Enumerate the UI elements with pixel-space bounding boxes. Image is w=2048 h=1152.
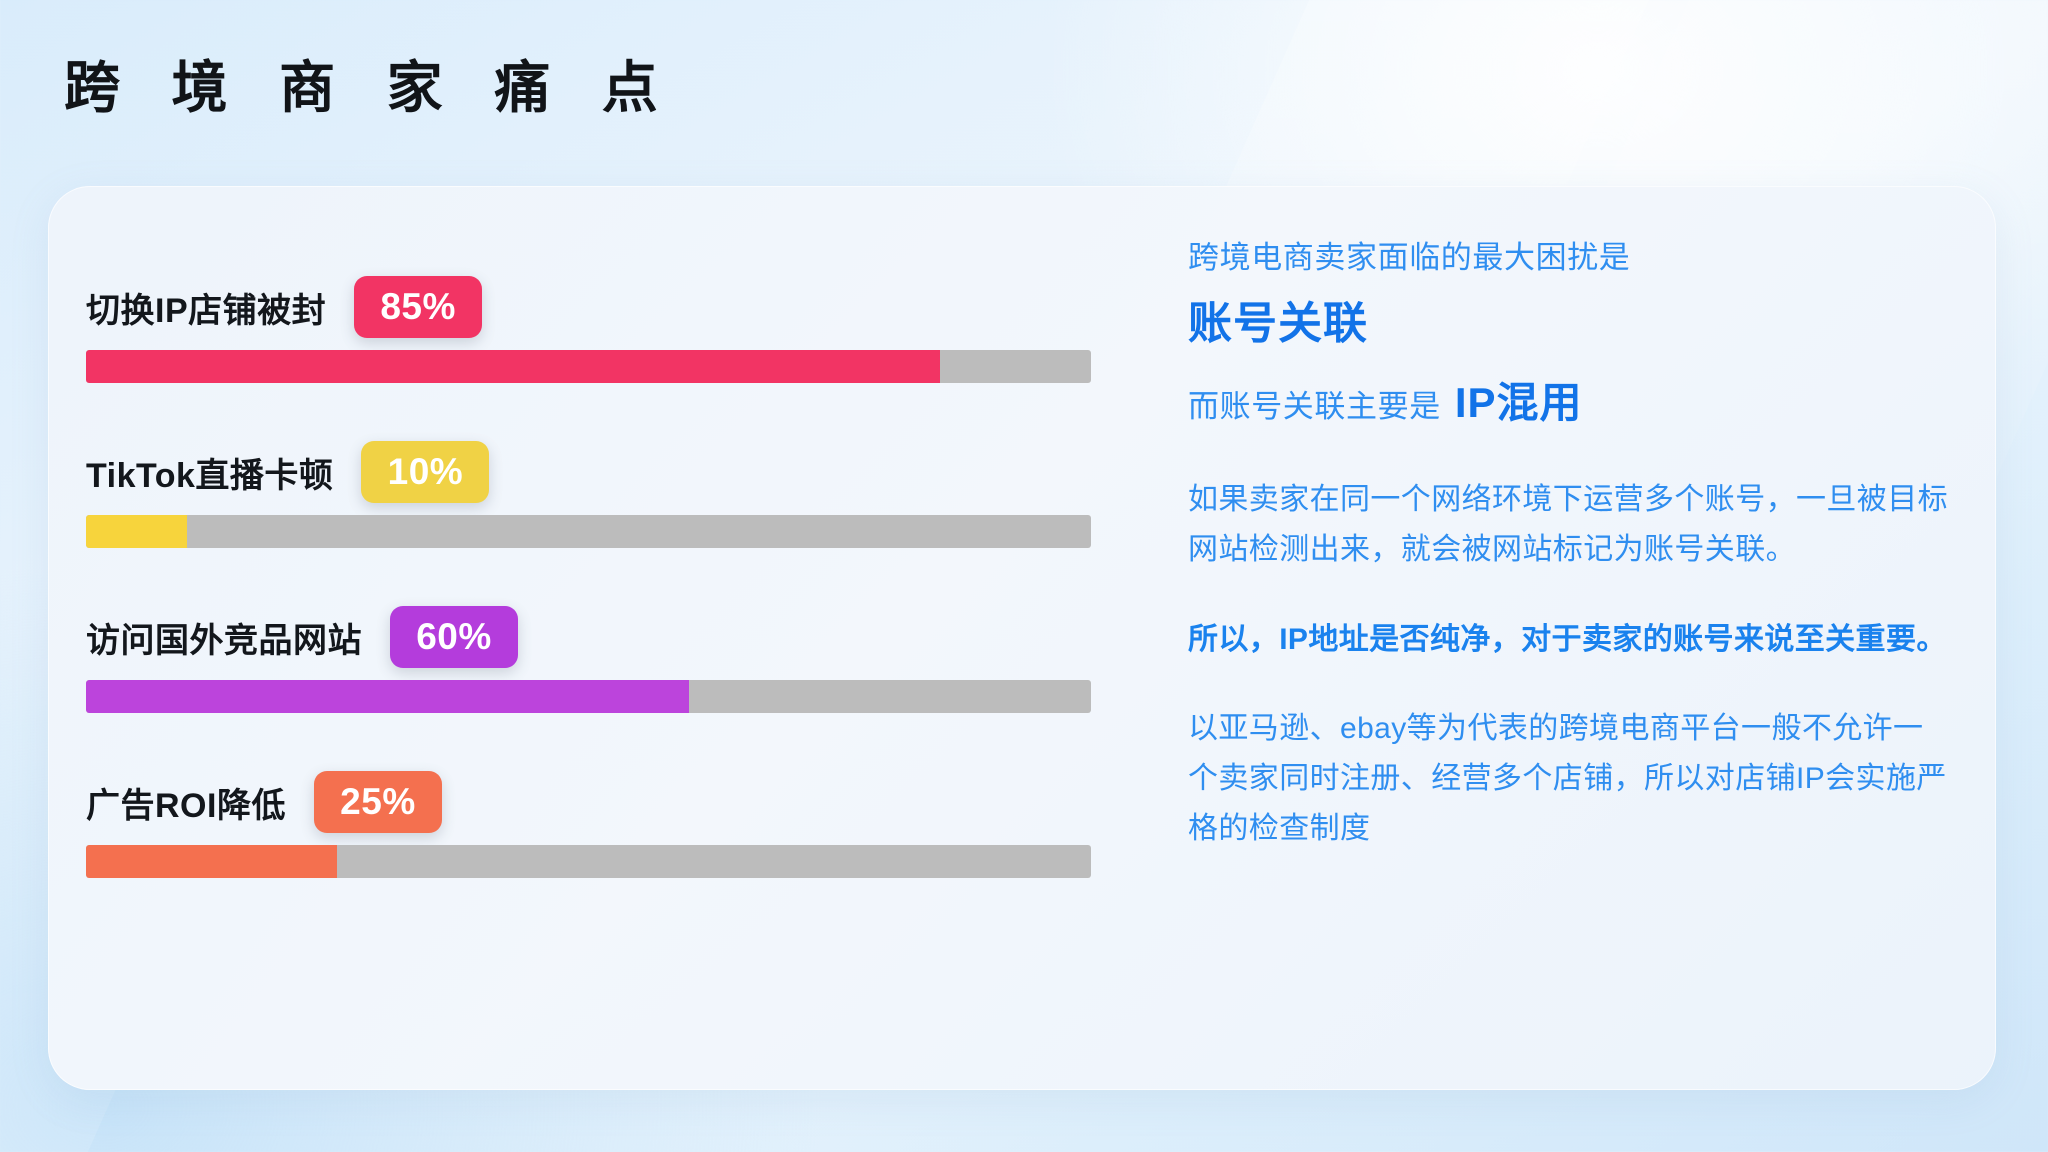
copy-paragraph-3: 以亚马逊、ebay等为代表的跨境电商平台一般不允许一个卖家同时注册、经营多个店铺…	[1188, 704, 1948, 853]
pain-point-label: 广告ROI降低	[86, 778, 286, 827]
content-card: 切换IP店铺被封85%TikTok直播卡顿10%访问国外竞品网站60%广告ROI…	[48, 186, 1996, 1090]
pain-point-label: 访问国外竞品网站	[86, 613, 362, 662]
pain-point-label: TikTok直播卡顿	[86, 448, 333, 497]
pain-point-bar-track	[86, 350, 1091, 383]
pain-point-row: 广告ROI降低25%	[86, 759, 1146, 924]
pain-point-label: 切换IP店铺被封	[86, 283, 326, 332]
pain-point-row: 访问国外竞品网站60%	[86, 594, 1146, 759]
explanation-column: 跨境电商卖家面临的最大困扰是 账号关联 而账号关联主要是 IP混用 如果卖家在同…	[1188, 234, 1948, 854]
pain-point-bar-fill	[86, 680, 689, 713]
page-title: 跨 境 商 家 痛 点	[64, 56, 676, 120]
pain-point-bar-track	[86, 515, 1091, 548]
pain-point-bar-fill	[86, 350, 940, 383]
pain-point-value-badge: 10%	[361, 441, 489, 503]
copy-subline-prefix: 而账号关联主要是	[1188, 383, 1441, 431]
pain-point-bar-list: 切换IP店铺被封85%TikTok直播卡顿10%访问国外竞品网站60%广告ROI…	[86, 264, 1146, 924]
pain-point-header: 广告ROI降低25%	[86, 759, 1146, 845]
pain-point-header: TikTok直播卡顿10%	[86, 429, 1146, 515]
pain-point-bar-track	[86, 680, 1091, 713]
pain-point-header: 切换IP店铺被封85%	[86, 264, 1146, 350]
copy-lead: 跨境电商卖家面临的最大困扰是	[1188, 234, 1948, 282]
pain-point-bar-track	[86, 845, 1091, 878]
pain-point-row: 切换IP店铺被封85%	[86, 264, 1146, 429]
pain-point-bar-fill	[86, 845, 337, 878]
copy-paragraph-2: 所以，IP地址是否纯净，对于卖家的账号来说至关重要。	[1188, 615, 1948, 665]
copy-subline-strong: IP混用	[1455, 370, 1583, 435]
copy-subline: 而账号关联主要是 IP混用	[1188, 370, 1948, 435]
pain-point-value-badge: 85%	[354, 276, 482, 338]
pain-point-row: TikTok直播卡顿10%	[86, 429, 1146, 594]
copy-highlight: 账号关联	[1188, 292, 1948, 356]
pain-point-bar-fill	[86, 515, 187, 548]
pain-point-value-badge: 25%	[314, 771, 442, 833]
copy-paragraph-1: 如果卖家在同一个网络环境下运营多个账号，一旦被目标网站检测出来，就会被网站标记为…	[1188, 475, 1948, 575]
pain-point-value-badge: 60%	[390, 606, 518, 668]
pain-point-header: 访问国外竞品网站60%	[86, 594, 1146, 680]
